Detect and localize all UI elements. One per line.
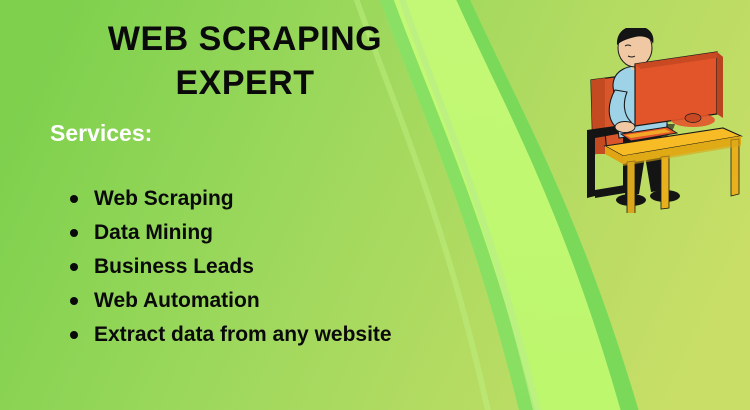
person-at-desk-with-computer-illustration	[565, 28, 750, 213]
title-line-1: WEB SCRAPING	[30, 18, 460, 62]
page-title: WEB SCRAPING EXPERT	[30, 18, 460, 105]
list-item-label: Business Leads	[94, 255, 254, 278]
list-item: Web Automation	[62, 284, 532, 318]
list-item-label: Data Mining	[94, 221, 213, 244]
list-item: Web Scraping	[62, 182, 532, 216]
list-item-label: Extract data from any website	[94, 323, 392, 346]
list-item: Business Leads	[62, 250, 532, 284]
services-heading: Services:	[50, 120, 152, 147]
list-item: Data Mining	[62, 216, 532, 250]
services-list: Web Scraping Data Mining Business Leads …	[62, 182, 532, 352]
content-layer: WEB SCRAPING EXPERT Services: Web Scrapi…	[0, 0, 750, 410]
bullet-icon	[70, 263, 78, 271]
bullet-icon	[70, 195, 78, 203]
list-item-label: Web Scraping	[94, 187, 234, 210]
web-scraping-expert-banner: WEB SCRAPING EXPERT Services: Web Scrapi…	[0, 0, 750, 410]
list-item-label: Web Automation	[94, 289, 260, 312]
title-line-2: EXPERT	[30, 62, 460, 106]
bullet-icon	[70, 297, 78, 305]
bullet-icon	[70, 229, 78, 237]
mouse-icon	[671, 113, 715, 127]
list-item: Extract data from any website	[62, 318, 532, 352]
bullet-icon	[70, 331, 78, 339]
